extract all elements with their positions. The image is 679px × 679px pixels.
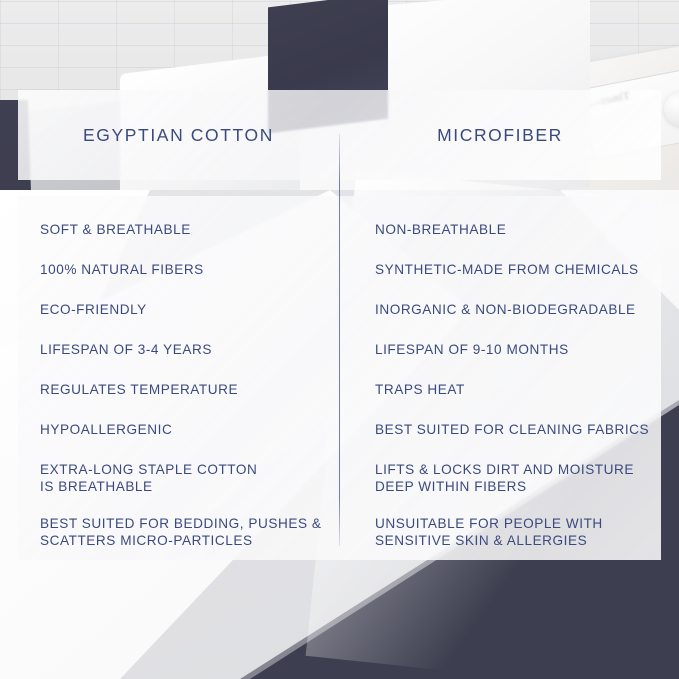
header-cell-right: MICROFIBER bbox=[339, 125, 661, 146]
list-item: LIFESPAN OF 3-4 YEARS bbox=[40, 342, 325, 359]
list-item: ECO-FRIENDLY bbox=[40, 302, 325, 319]
column-title-microfiber: MICROFIBER bbox=[339, 125, 661, 146]
list-item: REGULATES TEMPERATURE bbox=[40, 382, 325, 399]
list-item: INORGANIC & NON-BIODEGRADABLE bbox=[375, 302, 651, 319]
header-cell-left: EGYPTIAN COTTON bbox=[18, 125, 339, 146]
list-item: BEST SUITED FOR BEDDING, PUSHES & SCATTE… bbox=[40, 516, 325, 549]
column-title-egyptian-cotton: EGYPTIAN COTTON bbox=[18, 125, 339, 146]
list-item: UNSUITABLE FOR PEOPLE WITH SENSITIVE SKI… bbox=[375, 516, 651, 549]
list-item: SYNTHETIC-MADE FROM CHEMICALS bbox=[375, 262, 651, 279]
list-item: LIFESPAN OF 9-10 MONTHS bbox=[375, 342, 651, 359]
comparison-infographic: Times EGYPTIAN COTTON MICROFIBER SOFT & … bbox=[0, 0, 679, 679]
column-divider bbox=[339, 134, 340, 546]
list-item: SOFT & BREATHABLE bbox=[40, 222, 325, 239]
column-microfiber: NON-BREATHABLE SYNTHETIC-MADE FROM CHEMI… bbox=[339, 196, 661, 560]
list-item: BEST SUITED FOR CLEANING FABRICS bbox=[375, 422, 651, 439]
list-item: EXTRA-LONG STAPLE COTTON IS BREATHABLE bbox=[40, 462, 325, 495]
list-item: NON-BREATHABLE bbox=[375, 222, 651, 239]
list-item: LIFTS & LOCKS DIRT AND MOISTURE DEEP WIT… bbox=[375, 462, 651, 495]
column-egyptian-cotton: SOFT & BREATHABLE 100% NATURAL FIBERS EC… bbox=[18, 196, 339, 560]
list-item: TRAPS HEAT bbox=[375, 382, 651, 399]
list-item: 100% NATURAL FIBERS bbox=[40, 262, 325, 279]
list-item: HYPOALLERGENIC bbox=[40, 422, 325, 439]
